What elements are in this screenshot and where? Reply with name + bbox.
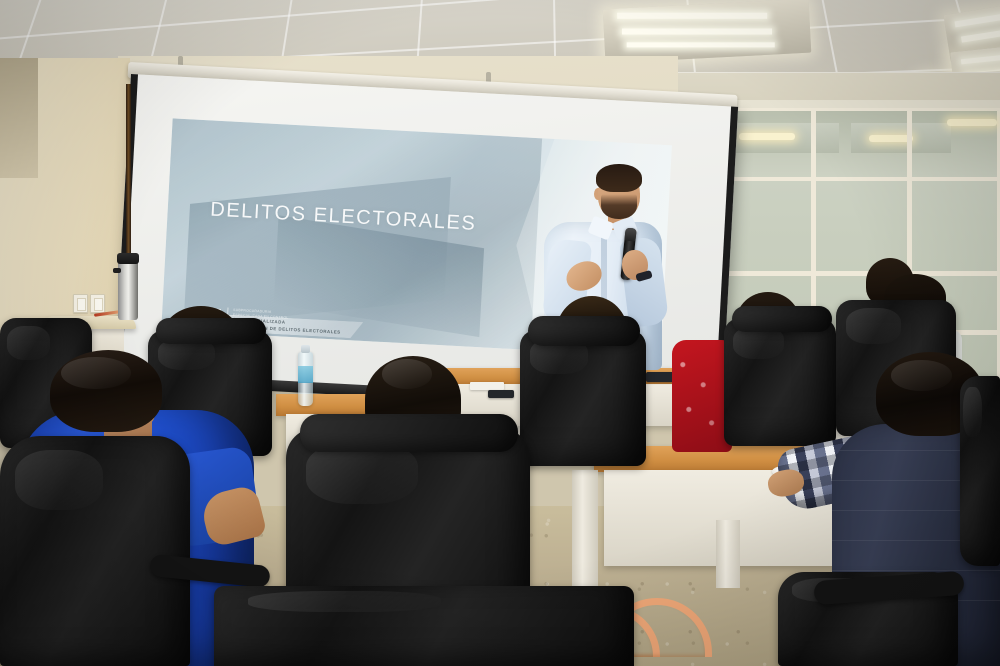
mobile-phone <box>488 390 514 398</box>
office-chair[interactable] <box>214 586 634 666</box>
table-leg <box>572 470 598 588</box>
conference-room-photo: DELITOS ELECTORALES FIE SUBPROCURADURIA … <box>0 0 1000 666</box>
light-switch-plate[interactable] <box>90 294 105 313</box>
coffee-urn <box>118 262 138 320</box>
presenter-hair <box>596 164 642 192</box>
office-chair[interactable] <box>960 376 1000 566</box>
chair-headrest[interactable] <box>156 318 266 344</box>
mobile-phone <box>646 372 674 382</box>
bottle-cap <box>301 345 310 353</box>
water-bottle <box>298 352 313 406</box>
table-leg <box>716 520 740 588</box>
office-chair[interactable] <box>0 436 190 666</box>
attendee-hair <box>50 350 162 432</box>
chair-headrest[interactable] <box>732 306 832 332</box>
glass-transom <box>719 111 997 181</box>
office-chair[interactable] <box>520 330 646 466</box>
bottle-label <box>298 366 313 383</box>
chair-headrest[interactable] <box>528 316 640 346</box>
red-patterned-blouse <box>672 340 732 452</box>
ceiling-light-fixture <box>603 0 812 63</box>
presenter-beard <box>601 192 637 219</box>
light-switch-plate[interactable] <box>73 294 88 313</box>
chair-headrest[interactable] <box>300 414 518 452</box>
urn-spout <box>113 268 121 273</box>
wall-shadow <box>0 58 38 178</box>
urn-lid <box>117 253 139 264</box>
office-chair[interactable] <box>724 318 836 446</box>
notepad <box>470 382 504 390</box>
